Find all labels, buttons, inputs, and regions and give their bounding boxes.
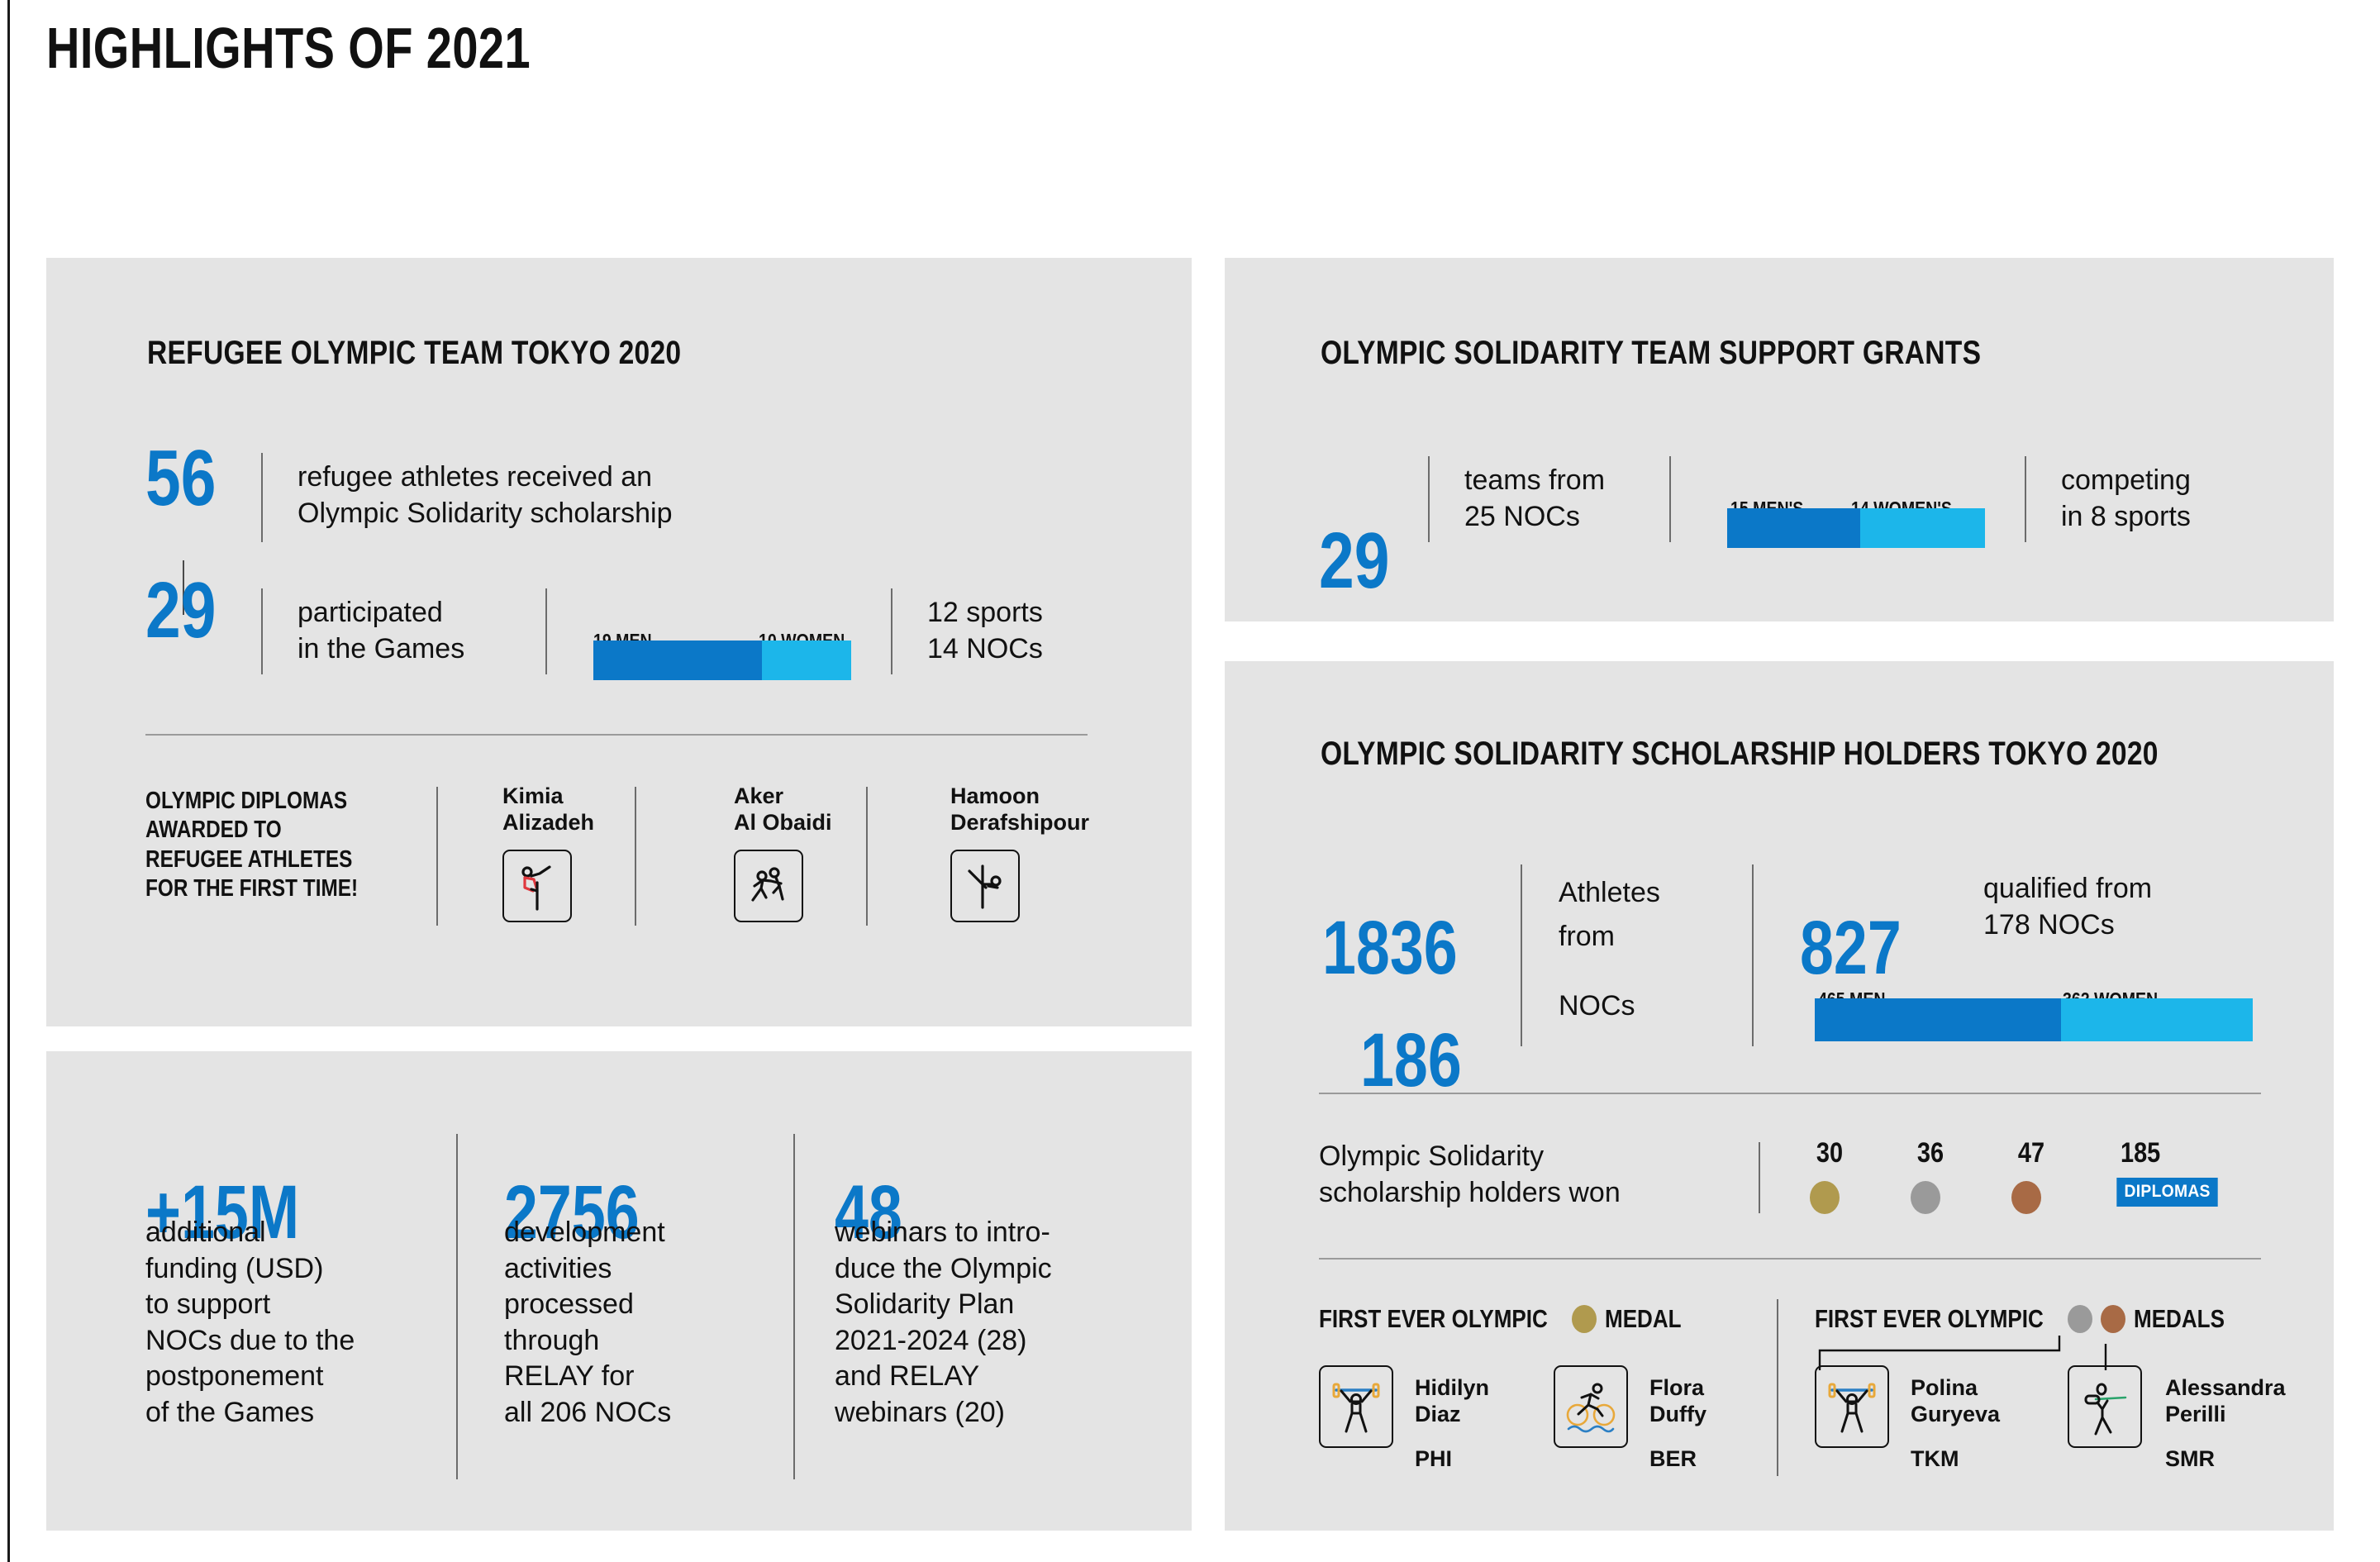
refugee-participated-text: participated in the Games	[297, 595, 545, 667]
medal-count-gold: 30	[1813, 1137, 1847, 1169]
first-ever-athlete-code-4: SMR	[2165, 1446, 2215, 1472]
first-ever-athlete-code-1: PHI	[1415, 1446, 1452, 1472]
first-ever-athlete-name-3: Polina Guryeva	[1911, 1375, 2000, 1428]
infographic-page: HIGHLIGHTS OF 2021 REFUGEE OLYMPIC TEAM …	[0, 0, 2380, 1562]
divider-diplomas	[436, 787, 438, 926]
grants-divider-3	[2025, 456, 2026, 542]
refugee-scholarship-count: 56	[145, 446, 216, 512]
refugee-sports-nocs: 12 sports 14 NOCs	[927, 595, 1175, 667]
scholarship-divider-2	[1752, 864, 1754, 1046]
funding-text-1: additional funding (USD) to support NOCs…	[145, 1215, 443, 1431]
medal-count-bronze: 47	[2015, 1137, 2049, 1169]
first-ever-medal-heading-right: FIRST EVER OLYMPIC MEDALS	[1815, 1304, 2241, 1334]
funding-divider-1	[456, 1134, 458, 1479]
bar-segment-women	[2061, 998, 2253, 1041]
first-ever-label-b: MEDAL	[1605, 1304, 1682, 1334]
diploma-athlete-name-2: Aker Al Obaidi	[734, 783, 832, 836]
page-title: HIGHLIGHTS OF 2021	[46, 15, 531, 81]
divider-bar-left	[545, 588, 547, 674]
refugee-scholarship-text: refugee athletes received an Olympic Sol…	[297, 460, 810, 531]
gold-medal-icon	[1572, 1305, 1597, 1333]
left-edge-rule	[7, 0, 10, 1562]
divider-athlete-1	[635, 787, 636, 926]
bar-segment-women	[1860, 508, 1985, 548]
first-ever-athlete-name-4: Alessandra Perilli	[2165, 1375, 2286, 1428]
silver-medal-icon	[2068, 1305, 2092, 1333]
wrestling-icon	[734, 850, 803, 922]
bronze-medal-icon	[2101, 1305, 2125, 1333]
grants-divider-1	[1428, 456, 1430, 542]
bar-segment-men	[1815, 998, 2061, 1041]
scholarship-separator-2	[1319, 1258, 2261, 1260]
refugee-gender-bar	[593, 641, 851, 680]
team-support-grants-panel	[1225, 258, 2334, 621]
gold-medal-icon	[1810, 1181, 1840, 1214]
scholarship-qualified-count: 827	[1800, 917, 1902, 979]
shooting-icon	[2068, 1365, 2142, 1448]
scholarship-panel-title: OLYMPIC SOLIDARITY SCHOLARSHIP HOLDERS T…	[1321, 736, 2159, 773]
diploma-athlete-name-3: Hamoon Derafshipour	[950, 783, 1089, 836]
scholarship-qualified-label: qualified from 178 NOCs	[1983, 871, 2330, 943]
refugee-separator	[145, 734, 1088, 736]
taekwondo-kick-icon	[950, 850, 1020, 922]
funding-text-2: development activities processed through…	[504, 1215, 785, 1431]
diplomas-badge: DIPLOMAS	[2116, 1178, 2218, 1207]
weightlifting-icon	[1319, 1365, 1393, 1448]
silver-medal-icon	[1911, 1181, 1940, 1214]
scholarship-athletes-label: Athletes from	[1559, 871, 1757, 958]
first-ever-label-a: FIRST EVER OLYMPIC	[1815, 1304, 2044, 1334]
grants-sports-text: competing in 8 sports	[2061, 463, 2309, 535]
scholarship-nocs-label: NOCs	[1559, 988, 1757, 1025]
first-ever-divider	[1777, 1299, 1778, 1476]
divider-56	[261, 453, 263, 542]
first-ever-athlete-name-2: Flora Duffy	[1649, 1375, 1706, 1428]
refugee-diplomas-kicker: OLYMPIC DIPLOMAS AWARDED TO REFUGEE ATHL…	[145, 787, 437, 904]
weightlifting-icon	[1815, 1365, 1889, 1448]
diploma-athlete-name-1: Kimia Alizadeh	[502, 783, 594, 836]
diploma-count-wrap: 185 DIPLOMAS	[2112, 1137, 2222, 1207]
scholarship-divider-3	[1759, 1142, 1760, 1213]
bar-segment-women	[762, 641, 851, 680]
grants-panel-title: OLYMPIC SOLIDARITY TEAM SUPPORT GRANTS	[1321, 335, 1981, 372]
scholarship-won-label: Olympic Solidarity scholarship holders w…	[1319, 1139, 1666, 1211]
scholarship-nocs-count: 186	[1360, 1030, 1462, 1092]
scholarship-gender-bar	[1815, 998, 2253, 1041]
grants-teams-text: teams from 25 NOCs	[1464, 463, 1696, 535]
funding-text-3: webinars to intro- duce the Olympic Soli…	[835, 1215, 1132, 1431]
medal-count-silver: 36	[1914, 1137, 1948, 1169]
refugee-panel-title: REFUGEE OLYMPIC TEAM TOKYO 2020	[147, 335, 681, 372]
medal-count-gold-wrap: 30	[1810, 1137, 1849, 1218]
scholarship-separator-1	[1319, 1093, 2261, 1094]
first-ever-athlete-name-1: Hidilyn Diaz	[1415, 1375, 1489, 1428]
funding-divider-2	[793, 1134, 795, 1479]
grants-divider-2	[1669, 456, 1671, 542]
bar-segment-men	[1727, 508, 1860, 548]
first-ever-medal-heading-left: FIRST EVER OLYMPIC MEDAL	[1319, 1304, 1696, 1334]
refugee-participated-count: 29	[145, 579, 216, 644]
medal-count-silver-wrap: 36	[1911, 1137, 1950, 1218]
first-ever-label-a: FIRST EVER OLYMPIC	[1319, 1304, 1548, 1334]
scholarship-athletes-count: 1836	[1322, 917, 1458, 979]
medal-count-bronze-wrap: 47	[2011, 1137, 2051, 1218]
divider-bar-right	[891, 588, 892, 674]
first-ever-athlete-code-2: BER	[1649, 1446, 1697, 1472]
divider-29	[261, 588, 263, 674]
first-ever-athlete-code-3: TKM	[1911, 1446, 1959, 1472]
first-ever-label-b: MEDALS	[2134, 1304, 2225, 1334]
grants-gender-bar	[1727, 508, 1985, 548]
scholarship-divider-1	[1521, 864, 1522, 1046]
taekwondo-icon	[502, 850, 572, 922]
divider-athlete-2	[866, 787, 868, 926]
diploma-count: 185	[2121, 1137, 2214, 1169]
triathlon-icon	[1554, 1365, 1628, 1448]
bronze-medal-icon	[2011, 1181, 2041, 1214]
grants-teams-count: 29	[1319, 529, 1389, 594]
bar-segment-men	[593, 641, 762, 680]
